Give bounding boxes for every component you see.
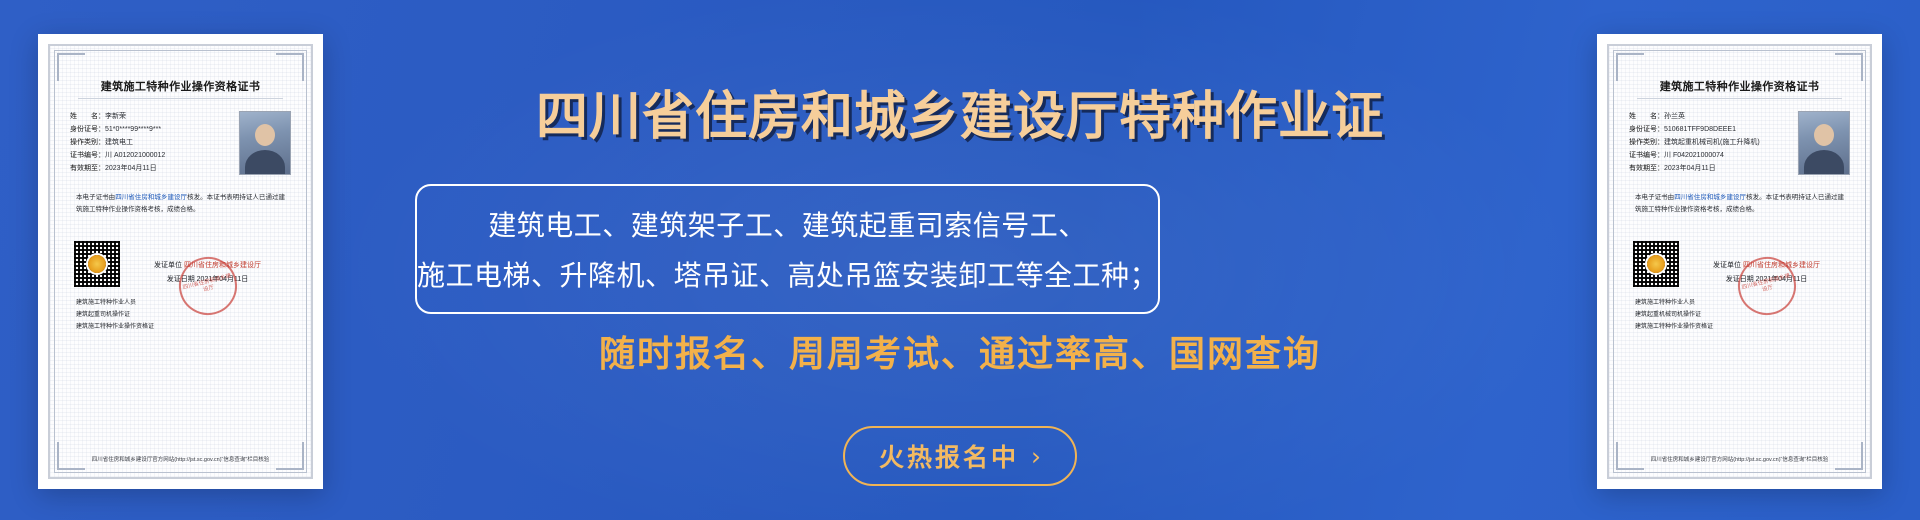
certificate-note: 本电子证书由四川省住房和城乡建设厅核发。本证书表明持证人已通过建筑施工特种作业操…: [1635, 192, 1844, 217]
qr-code-icon: [74, 241, 120, 287]
issuer-line: 发证单位 四川省住房和城乡建设厅: [128, 259, 287, 273]
certificate-side-note: 建筑起重司机操作证: [76, 309, 285, 321]
field-value: 川 A012021000012: [105, 152, 165, 159]
field-value: 川 F042021000074: [1664, 152, 1724, 159]
certificate-side-note: 建筑起重机械司机操作证: [1635, 309, 1844, 321]
issue-date-value: 2021年04月11日: [197, 276, 249, 283]
issue-date-line: 发证日期 2021年04月11日: [128, 273, 287, 287]
certificate-field-row: 证书编号：川 A012021000012: [70, 150, 233, 163]
issue-date-label: 发证日期: [1726, 276, 1754, 283]
issuer-label: 发证单位: [1713, 262, 1741, 269]
field-label: 证书编号：: [70, 152, 105, 159]
field-value: 2023年04月11日: [1664, 165, 1716, 172]
issuer-name: 四川省住房和城乡建设厅: [184, 262, 261, 269]
note-highlight: 四川省住房和城乡建设厅: [1674, 194, 1746, 201]
field-label: 有效期至：: [70, 165, 105, 172]
field-label: 证书编号：: [1629, 152, 1664, 159]
certificate-side-note: 建筑施工特种作业人员: [76, 297, 285, 309]
certificate-note: 本电子证书由四川省住房和城乡建设厅核发。本证书表明持证人已通过建筑施工特种作业操…: [76, 192, 285, 217]
note-highlight: 四川省住房和城乡建设厅: [115, 194, 187, 201]
field-label: 有效期至：: [1629, 165, 1664, 172]
certificate-issuer-block: 四川省住房和城乡建设厅 发证单位 四川省住房和城乡建设厅 发证日期 2021年0…: [128, 259, 287, 287]
banner-headline: 四川省住房和城乡建设厅特种作业证: [0, 74, 1920, 149]
certificate-footer: 四川省住房和城乡建设厅 发证单位 四川省住房和城乡建设厅 发证日期 2021年0…: [74, 241, 287, 287]
issue-date-label: 发证日期: [167, 276, 195, 283]
cta-container: 火热报名中 ›: [0, 426, 1920, 486]
certificate-field-row: 证书编号：川 F042021000074: [1629, 150, 1792, 163]
certificate-field-row: 有效期至：2023年04月11日: [1629, 163, 1792, 176]
qualification-list-line-1: 建筑电工、建筑架子工、建筑起重司索信号工、: [488, 204, 1087, 244]
certificate-footer: 四川省住房和城乡建设厅 发证单位 四川省住房和城乡建设厅 发证日期 2021年0…: [1633, 241, 1846, 287]
issuer-label: 发证单位: [154, 262, 182, 269]
certificate-field-row: 有效期至：2023年04月11日: [70, 163, 233, 176]
certificate-issuer-block: 四川省住房和城乡建设厅 发证单位 四川省住房和城乡建设厅 发证日期 2021年0…: [1687, 259, 1846, 287]
chevron-right-icon: ›: [1031, 442, 1041, 471]
enroll-now-button[interactable]: 火热报名中 ›: [843, 426, 1077, 486]
note-prefix: 本电子证书由: [1635, 194, 1674, 201]
certificate-side-note: 建筑施工特种作业人员: [1635, 297, 1844, 309]
issue-date-value: 2021年04月11日: [1756, 276, 1808, 283]
field-value: 2023年04月11日: [105, 165, 157, 172]
banner-slogan: 随时报名、周周考试、通过率高、国网查询: [0, 325, 1920, 377]
qualification-list-box: 建筑电工、建筑架子工、建筑起重司索信号工、 施工电梯、升降机、塔吊证、高处吊篮安…: [415, 184, 1160, 314]
issuer-line: 发证单位 四川省住房和城乡建设厅: [1687, 259, 1846, 273]
issuer-name: 四川省住房和城乡建设厅: [1743, 262, 1820, 269]
issue-date-line: 发证日期 2021年04月11日: [1687, 273, 1846, 287]
note-prefix: 本电子证书由: [76, 194, 115, 201]
promo-banner: 建筑施工特种作业操作资格证书 姓 名：李新荣 身份证号：51*0****99**…: [0, 0, 1920, 520]
qr-code-icon: [1633, 241, 1679, 287]
qualification-list-line-2: 施工电梯、升降机、塔吊证、高处吊篮安装卸工等全工种；: [417, 254, 1158, 294]
enroll-now-label: 火热报名中: [879, 438, 1019, 474]
